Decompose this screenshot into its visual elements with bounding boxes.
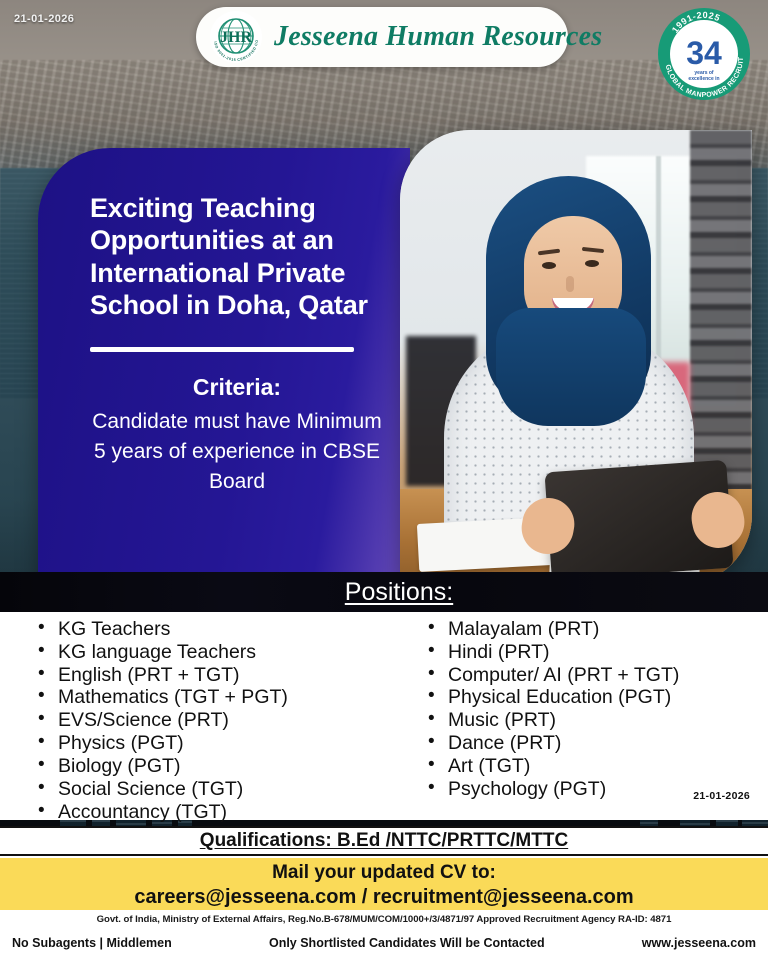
position-list-item: EVS/Science (PRT) (34, 709, 410, 732)
position-list-item: Hindi (PRT) (424, 641, 768, 664)
svg-text:JHR: JHR (220, 29, 252, 46)
mail-cv-heading: Mail your updated CV to: (0, 862, 768, 884)
position-list-item: English (PRT + TGT) (34, 664, 410, 687)
qualifications-bar: Qualifications: B.Ed /NTTC/PRTTC/MTTC (0, 826, 768, 856)
positions-date-stamp: 21-01-2026 (693, 790, 750, 802)
svg-text:34: 34 (686, 35, 722, 71)
positions-left-column: KG TeachersKG language TeachersEnglish (… (0, 612, 410, 820)
position-list-item: Physics (PGT) (34, 732, 410, 755)
brand-logo-pill: JHR ISO 9001-2015 CERTIFIED COMPANY Jess… (196, 7, 568, 67)
position-list-item: Biology (PGT) (34, 755, 410, 778)
positions-list-left: KG TeachersKG language TeachersEnglish (… (34, 618, 410, 823)
positions-right-column: Malayalam (PRT)Hindi (PRT)Computer/ AI (… (410, 612, 768, 820)
qualifications-text: Qualifications: B.Ed /NTTC/PRTTC/MTTC (200, 830, 568, 852)
divider-rule (90, 347, 354, 352)
positions-list-right: Malayalam (PRT)Hindi (PRT)Computer/ AI (… (424, 618, 768, 801)
positions-section: KG TeachersKG language TeachersEnglish (… (0, 612, 768, 820)
headline-panel: Exciting Teaching Opportunities at an In… (38, 148, 410, 585)
photo-person-eye (585, 260, 599, 267)
criteria-text: Candidate must have Minimum 5 years of e… (90, 407, 384, 498)
footer-no-subagents: No Subagents | Middlemen (12, 936, 172, 950)
position-list-item: Social Science (TGT) (34, 778, 410, 801)
footer-website[interactable]: www.jesseena.com (642, 936, 756, 950)
footer-bar: No Subagents | Middlemen Only Shortliste… (0, 936, 768, 950)
brand-name: Jesseena Human Resources (274, 21, 602, 53)
registration-line: Govt. of India, Ministry of External Aff… (0, 914, 768, 925)
position-list-item: Mathematics (TGT + PGT) (34, 686, 410, 709)
criteria-label: Criteria: (90, 374, 384, 401)
position-list-item: KG language Teachers (34, 641, 410, 664)
position-list-item: Art (TGT) (424, 755, 768, 778)
mail-cv-emails[interactable]: careers@jesseena.com / recruitment@jesse… (0, 886, 768, 909)
position-list-item: Malayalam (PRT) (424, 618, 768, 641)
position-list-item: KG Teachers (34, 618, 410, 641)
position-list-item: Physical Education (PGT) (424, 686, 768, 709)
position-list-item: Dance (PRT) (424, 732, 768, 755)
footer-shortlist-note: Only Shortlisted Candidates Will be Cont… (269, 936, 545, 950)
poster-root: 21-01-2026 JHR ISO 9001-2015 CERTIFIED C… (0, 0, 768, 960)
position-list-item: Computer/ AI (PRT + TGT) (424, 664, 768, 687)
globe-icon: JHR ISO 9001-2015 CERTIFIED COMPANY (208, 9, 264, 65)
svg-text:excellence in: excellence in (688, 76, 719, 82)
positions-title: Positions: (345, 578, 453, 607)
positions-header-band: Positions: (0, 572, 768, 612)
page-title: Exciting Teaching Opportunities at an In… (90, 192, 384, 322)
anniversary-badge: 1991-2025 34 years of excellence in GLOB… (656, 6, 752, 102)
teacher-photo (400, 130, 752, 585)
position-list-item: Accountancy (TGT) (34, 801, 410, 824)
photo-person-eye (542, 262, 556, 269)
top-date-stamp: 21-01-2026 (14, 13, 74, 25)
mail-cv-band: Mail your updated CV to: careers@jesseen… (0, 858, 768, 910)
photo-person-hijab-drape (496, 308, 646, 426)
position-list-item: Music (PRT) (424, 709, 768, 732)
photo-person-nose (566, 276, 574, 292)
